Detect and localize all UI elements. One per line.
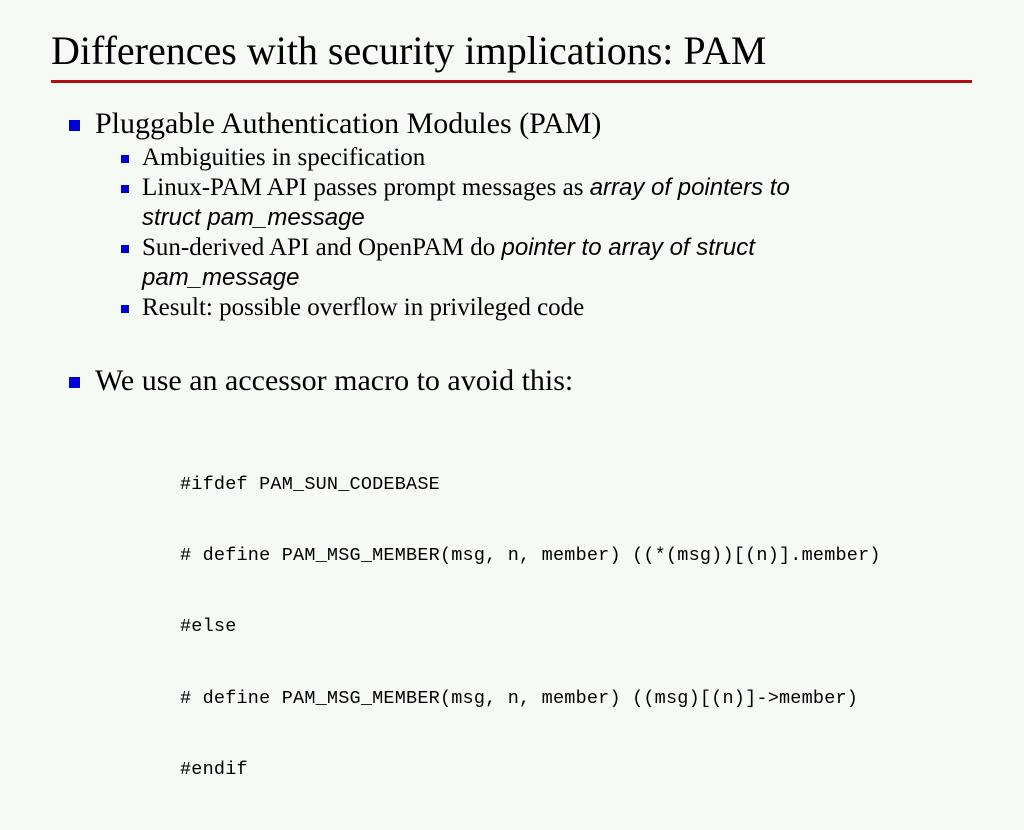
slide-body: Pluggable Authentication Modules (PAM) A…: [0, 104, 1024, 400]
code-snippet: #ifdef PAM_SUN_CODEBASE # define PAM_MSG…: [180, 425, 881, 830]
bullet-level2-text: Result: possible overflow in privileged …: [142, 293, 854, 323]
bullet-level2-text: Linux-PAM API passes prompt messages as …: [142, 173, 854, 233]
bullet-text-plain: Result: possible overflow in privileged …: [142, 294, 584, 321]
bullet-level2-ambiguities: Ambiguities in specification: [0, 143, 1024, 173]
bullet-text-plain: Linux-PAM API passes prompt messages as: [142, 174, 590, 201]
square-bullet-icon: [121, 185, 129, 193]
square-bullet-icon: [121, 155, 129, 163]
bullet-level2-result: Result: possible overflow in privileged …: [0, 293, 1024, 323]
page-title: Differences with security implications: …: [51, 28, 972, 74]
bullet-level1-label: We use an accessor macro to avoid this:: [95, 364, 573, 397]
bullet-level2-sun-openpam: Sun-derived API and OpenPAM do pointer t…: [0, 233, 1024, 293]
code-line: # define PAM_MSG_MEMBER(msg, n, member) …: [180, 544, 881, 568]
bullet-level2-text: Ambiguities in specification: [142, 143, 854, 173]
bullet-text-plain: Ambiguities in specification: [142, 144, 425, 171]
bullet-level1-pam: Pluggable Authentication Modules (PAM): [0, 104, 1024, 143]
square-bullet-icon: [121, 245, 129, 253]
bullet-level2-text: Sun-derived API and OpenPAM do pointer t…: [142, 233, 854, 293]
code-line: #ifdef PAM_SUN_CODEBASE: [180, 473, 881, 497]
bullet-text-plain: Sun-derived API and OpenPAM do: [142, 234, 502, 261]
bullet-level1-accessor-macro: We use an accessor macro to avoid this:: [0, 361, 1024, 400]
code-line: #else: [180, 615, 881, 639]
title-block: Differences with security implications: …: [51, 28, 972, 83]
square-bullet-icon: [121, 305, 129, 313]
spacer: [0, 323, 1024, 361]
title-underline-rule: [51, 80, 972, 83]
code-line: # define PAM_MSG_MEMBER(msg, n, member) …: [180, 687, 881, 711]
square-bullet-icon: [69, 120, 80, 131]
code-line: #endif: [180, 758, 881, 782]
square-bullet-icon: [69, 377, 80, 388]
bullet-level1-label: Pluggable Authentication Modules (PAM): [95, 107, 601, 140]
bullet-level2-linux-pam: Linux-PAM API passes prompt messages as …: [0, 173, 1024, 233]
slide: Differences with security implications: …: [0, 0, 1024, 724]
